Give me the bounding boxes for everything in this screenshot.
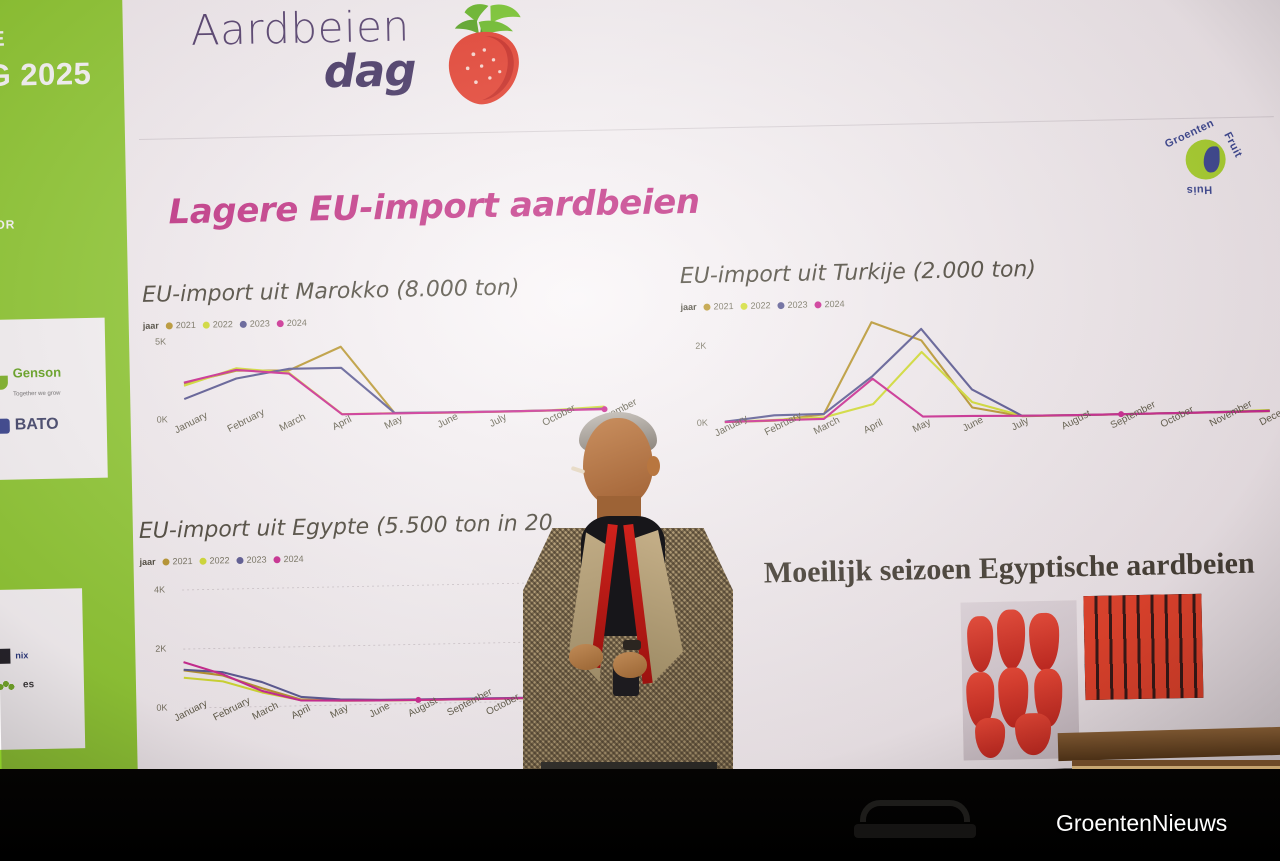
legend-series-name: 2024 (287, 318, 307, 328)
legend-item-2023[interactable]: 2023 (240, 318, 270, 329)
logo-word-dag: dag (323, 43, 416, 98)
legend-series-name: 2024 (824, 299, 844, 309)
right-heading: Moeilijk seizoen Egyptische aardbeien (764, 546, 1265, 590)
legend-series-name: 2022 (750, 300, 770, 310)
legend-series-name: 2023 (246, 554, 266, 564)
legend-label: jaar (680, 302, 696, 312)
legend-item-2023[interactable]: 2023 (236, 554, 266, 565)
legend-series-name: 2023 (250, 318, 270, 328)
y-tick-label: 0K (157, 414, 168, 424)
legend-item-2021[interactable]: 2021 (703, 301, 733, 312)
slide-title: Lagere EU-import aardbeien (168, 182, 700, 233)
strawberry-photo-right (1083, 594, 1203, 700)
gfh-word-huis: Huis (1186, 183, 1212, 196)
speaker-head (583, 418, 653, 506)
sponsor-logo-bato: BATO (0, 416, 59, 435)
legend-swatch-icon (740, 302, 747, 309)
sponsor-tagline: Together we grow (13, 391, 60, 398)
legend-item-2024[interactable]: 2024 (273, 554, 303, 565)
chair-seat (854, 824, 976, 838)
groenten-fruit-huis-logo: Groenten Fruit Huis (1157, 113, 1255, 207)
legend-series-name: 2023 (787, 300, 807, 310)
legend-swatch-icon (236, 556, 243, 563)
square-mark-icon (0, 648, 11, 663)
sponsor-logo-fourth: es (0, 679, 34, 692)
legend-label: jaar (143, 321, 159, 331)
aardbeiendag-logo: Aardbeien dag (182, 0, 545, 122)
y-tick-label: 5K (155, 336, 166, 346)
legend-item-2024[interactable]: 2024 (814, 299, 844, 310)
legend-swatch-icon (199, 557, 206, 564)
presentation-stage-photo: DE AG 2025 NSOR Genson Together we grow … (0, 0, 1280, 861)
fern-icon (0, 679, 18, 691)
legend-item-2024[interactable]: 2024 (277, 318, 307, 329)
chart-title-morocco: EU-import uit Marokko (8.000 ton) (142, 273, 612, 307)
y-tick-label: 2K (695, 341, 706, 351)
sponsor-name: nix (15, 650, 28, 660)
legend-swatch-icon (277, 320, 284, 327)
sponsor-card-top: Genson Together we grow BATO (0, 318, 108, 480)
band-line-1: DE (0, 28, 5, 53)
band-line-2: AG 2025 (0, 56, 92, 95)
face-silhouette-icon (1203, 146, 1220, 172)
legend-swatch-icon (815, 301, 822, 308)
speaker-ear (647, 456, 660, 476)
speaker-hand-left (569, 644, 603, 670)
legend-swatch-icon (777, 302, 784, 309)
series-line-2022 (184, 361, 605, 418)
legend-item-2021[interactable]: 2021 (162, 556, 192, 567)
sponsor-card-bottom: nix es (0, 588, 85, 750)
legend-item-2021[interactable]: 2021 (166, 320, 196, 331)
wristwatch (623, 640, 641, 650)
legend-item-2022[interactable]: 2022 (203, 319, 233, 330)
legend-swatch-icon (240, 320, 247, 327)
series-line-2024 (184, 363, 605, 418)
series-line-2021 (183, 341, 604, 418)
sponsor-logo-genson: Genson Together we grow (0, 364, 62, 401)
legend-series-name: 2024 (283, 554, 303, 564)
legend-swatch-icon (162, 558, 169, 565)
legend-series-name: 2021 (172, 556, 192, 566)
legend-series-name: 2021 (176, 320, 196, 330)
bato-mark-icon (0, 418, 10, 433)
sponsor-name: es (23, 679, 34, 690)
leaf-icon (0, 376, 8, 390)
legend-swatch-icon (274, 556, 281, 563)
y-tick-label: 0K (156, 703, 167, 713)
legend-swatch-icon (166, 322, 173, 329)
legend-item-2023[interactable]: 2023 (777, 300, 807, 311)
y-tick-label: 2K (155, 643, 166, 653)
chair (850, 800, 980, 861)
y-tick-label: 4K (154, 584, 165, 594)
chart-title-turkije: EU-import uit Turkije (2.000 ton) (680, 252, 1260, 289)
sponsor-name: BATO (15, 416, 59, 435)
legend-swatch-icon (203, 321, 210, 328)
legend-item-2022[interactable]: 2022 (199, 555, 229, 566)
chart-turkije: EU-import uit Turkije (2.000 ton)jaar202… (680, 252, 1264, 476)
plot-area-turkije: 0K2KJanuaryFebruaryMarchAprilMayJuneJuly… (681, 312, 1271, 476)
legend-series-name: 2021 (713, 301, 733, 311)
header-divider (139, 116, 1274, 140)
chair-back (860, 800, 970, 822)
legend-label: jaar (139, 557, 155, 567)
legend-item-2022[interactable]: 2022 (740, 300, 770, 311)
legend-swatch-icon (703, 303, 710, 310)
band-sponsor-label: NSOR (0, 217, 16, 232)
legend-series-name: 2022 (213, 319, 233, 329)
chart-legend-morocco: jaar2021202220232024 (143, 311, 613, 330)
strawberry-icon (428, 1, 526, 113)
legend-series-name: 2022 (209, 555, 229, 565)
speaker-hand-right (613, 652, 647, 678)
chart-legend-turkije: jaar2021202220232024 (680, 290, 1260, 312)
sponsor-logo-third: nix (0, 648, 29, 664)
watermark-groentennieuws: GroentenNieuws (1056, 810, 1227, 837)
sponsor-name: Genson (13, 365, 62, 381)
